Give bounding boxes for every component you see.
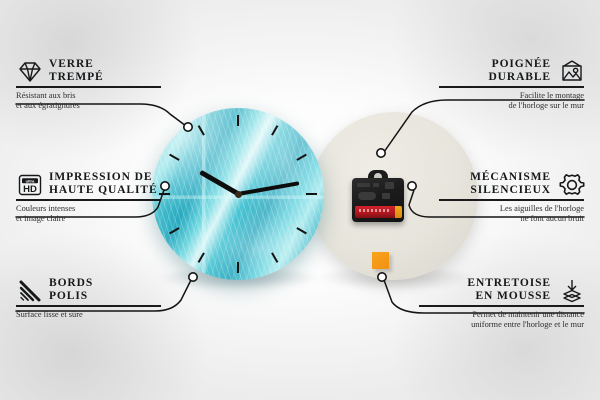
download-stack-icon bbox=[558, 278, 584, 302]
battery-positive-cap bbox=[395, 206, 402, 218]
callout-description: Couleurs intenses et image claire bbox=[16, 204, 161, 224]
callout-title: IMPRESSION DE HAUTE QUALITÉ bbox=[49, 171, 158, 196]
callout-description: Facilite le montage de l'horloge sur le … bbox=[439, 91, 584, 111]
callout-rule bbox=[16, 86, 161, 88]
clock-hour-hand bbox=[199, 170, 240, 196]
diagonal-lines-icon bbox=[16, 278, 42, 302]
callout-rule bbox=[16, 199, 161, 201]
callout-rule bbox=[16, 305, 161, 307]
ultra-hd-icon: ultra HD bbox=[16, 172, 42, 196]
diamond-icon bbox=[16, 59, 42, 83]
foam-spacer bbox=[372, 252, 389, 269]
gear-icon bbox=[558, 172, 584, 196]
callout-impression-haute-qualite[interactable]: ultra HD IMPRESSION DE HAUTE QUALITÉ Cou… bbox=[16, 171, 161, 224]
callout-description: Permet de maintenir une distance uniform… bbox=[419, 310, 584, 330]
callout-rule bbox=[439, 199, 584, 201]
battery-label-stripe bbox=[359, 209, 389, 212]
callout-title: VERRE TREMPÉ bbox=[49, 58, 104, 83]
hanging-picture-icon bbox=[558, 59, 584, 83]
callout-description: Surface lisse et sûre bbox=[16, 310, 161, 320]
svg-text:HD: HD bbox=[23, 184, 37, 195]
callout-title: ENTRETOISE EN MOUSSE bbox=[467, 277, 551, 302]
callout-description: Les aiguilles de l'horloge ne font aucun… bbox=[439, 204, 584, 224]
callout-mecanisme-silencieux[interactable]: MÉCANISME SILENCIEUX Les aiguilles de l'… bbox=[439, 171, 584, 224]
callout-title: MÉCANISME SILENCIEUX bbox=[470, 171, 551, 196]
clock-tick-marks bbox=[152, 108, 324, 280]
svg-text:ultra: ultra bbox=[26, 178, 35, 183]
callout-description: Résistant aux bris et aux égratignures bbox=[16, 91, 161, 111]
callout-title: POIGNÉE DURABLE bbox=[488, 58, 551, 83]
clock-minute-hand bbox=[238, 181, 300, 196]
callout-verre-trempe[interactable]: VERRE TREMPÉ Résistant aux bris et aux é… bbox=[16, 58, 161, 111]
callout-poignee-durable[interactable]: POIGNÉE DURABLE Facilite le montage de l… bbox=[439, 58, 584, 111]
callout-rule bbox=[419, 305, 584, 307]
callout-rule bbox=[439, 86, 584, 88]
product-infographic: VERRE TREMPÉ Résistant aux bris et aux é… bbox=[0, 0, 600, 400]
callout-entretoise-en-mousse[interactable]: ENTRETOISE EN MOUSSE Permet de maintenir… bbox=[419, 277, 584, 330]
clock-center-cap bbox=[235, 191, 242, 198]
callout-title: BORDS POLIS bbox=[49, 277, 93, 302]
callout-bords-polis[interactable]: BORDS POLIS Surface lisse et sûre bbox=[16, 277, 161, 320]
